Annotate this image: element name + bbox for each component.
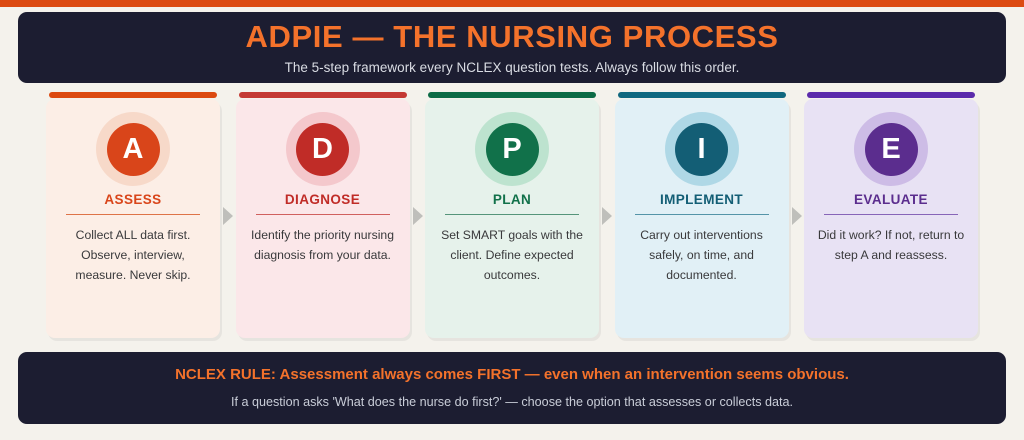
nclex-rule-headline: NCLEX RULE: Assessment always comes FIRS… bbox=[175, 367, 849, 382]
step-card[interactable]: EEVALUATEDid it work? If not, return to … bbox=[804, 99, 978, 338]
step-description: Identify the priority nursing diagnosis … bbox=[245, 226, 401, 266]
step-description: Did it work? If not, return to step A an… bbox=[813, 226, 969, 266]
step-label-underline bbox=[824, 214, 958, 216]
step-diagnose[interactable]: DDIAGNOSEIdentify the priority nursing d… bbox=[236, 92, 410, 338]
step-label: EVALUATE bbox=[854, 193, 928, 207]
step-accent-bar bbox=[428, 92, 596, 98]
page-subtitle: The 5-step framework every NCLEX questio… bbox=[285, 61, 740, 75]
step-card[interactable]: IIMPLEMENTCarry out interventions safely… bbox=[615, 99, 789, 338]
step-card[interactable]: PPLANSet SMART goals with the client. De… bbox=[425, 99, 599, 338]
step-accent-bar bbox=[49, 92, 217, 98]
step-accent-bar bbox=[807, 92, 975, 98]
page-title: ADPIE — THE NURSING PROCESS bbox=[246, 21, 779, 52]
adpie-steps-row: AASSESSCollect ALL data first. Observe, … bbox=[46, 92, 978, 338]
step-connector-arrow-icon bbox=[223, 207, 233, 225]
step-card[interactable]: AASSESSCollect ALL data first. Observe, … bbox=[46, 99, 220, 338]
step-implement[interactable]: IIMPLEMENTCarry out interventions safely… bbox=[615, 92, 789, 338]
step-badge: A bbox=[96, 112, 170, 186]
step-label-underline bbox=[66, 214, 200, 216]
nclex-rule-subline: If a question asks 'What does the nurse … bbox=[231, 396, 793, 409]
step-card[interactable]: DDIAGNOSEIdentify the priority nursing d… bbox=[236, 99, 410, 338]
step-connector-arrow-icon bbox=[792, 207, 802, 225]
step-evaluate[interactable]: EEVALUATEDid it work? If not, return to … bbox=[804, 92, 978, 338]
step-badge: E bbox=[854, 112, 928, 186]
step-connector-arrow-icon bbox=[602, 207, 612, 225]
step-description: Set SMART goals with the client. Define … bbox=[434, 226, 590, 285]
badge-letter-p: P bbox=[486, 123, 539, 176]
nclex-rule-banner: NCLEX RULE: Assessment always comes FIRS… bbox=[18, 352, 1006, 424]
step-connector-arrow-icon bbox=[413, 207, 423, 225]
step-badge: P bbox=[475, 112, 549, 186]
step-plan[interactable]: PPLANSet SMART goals with the client. De… bbox=[425, 92, 599, 338]
step-label: IMPLEMENT bbox=[660, 193, 743, 207]
step-badge: D bbox=[286, 112, 360, 186]
badge-letter-d: D bbox=[296, 123, 349, 176]
header-banner: ADPIE — THE NURSING PROCESS The 5-step f… bbox=[18, 12, 1006, 83]
step-label: PLAN bbox=[493, 193, 531, 207]
step-label-underline bbox=[635, 214, 769, 216]
step-description: Carry out interventions safely, on time,… bbox=[624, 226, 780, 285]
badge-letter-a: A bbox=[107, 123, 160, 176]
badge-letter-i: I bbox=[675, 123, 728, 176]
badge-letter-e: E bbox=[865, 123, 918, 176]
step-label: ASSESS bbox=[104, 193, 161, 207]
step-label-underline bbox=[256, 214, 390, 216]
step-accent-bar bbox=[239, 92, 407, 98]
step-label: DIAGNOSE bbox=[285, 193, 360, 207]
step-accent-bar bbox=[618, 92, 786, 98]
step-assess[interactable]: AASSESSCollect ALL data first. Observe, … bbox=[46, 92, 220, 338]
step-badge: I bbox=[665, 112, 739, 186]
top-accent-strip bbox=[0, 0, 1024, 7]
step-description: Collect ALL data first. Observe, intervi… bbox=[55, 226, 211, 285]
step-label-underline bbox=[445, 214, 579, 216]
